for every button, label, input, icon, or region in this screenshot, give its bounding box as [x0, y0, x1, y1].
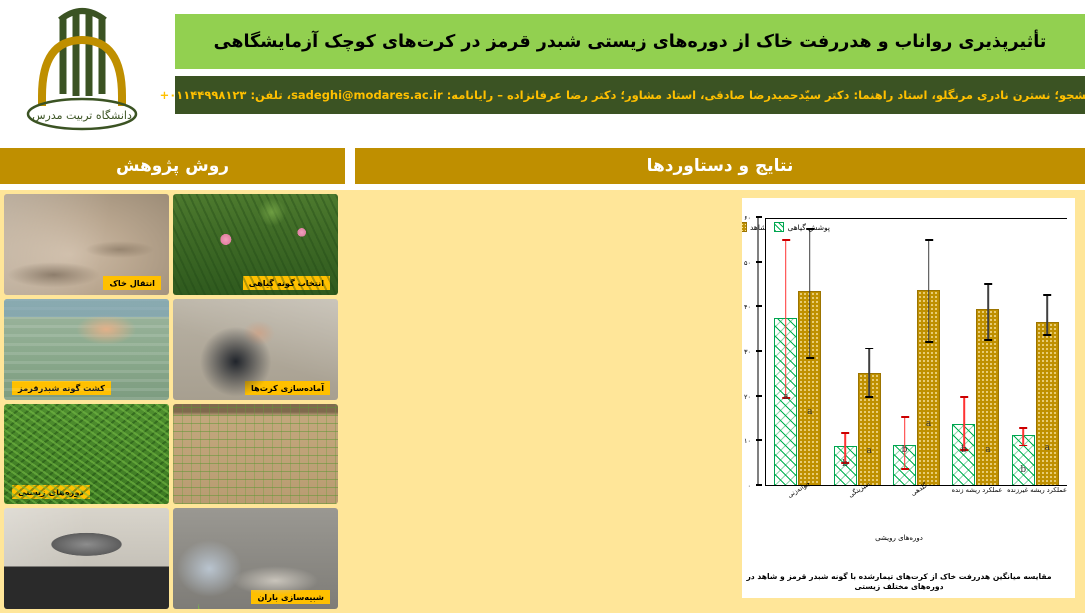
significance-letter: b — [1020, 465, 1026, 475]
significance-letter: b — [961, 445, 967, 455]
error-bar — [963, 396, 965, 451]
photo-red-clover-planting: کشت گونه شبدرقرمز — [4, 299, 169, 400]
photo-caption: انتقال خاک — [103, 276, 161, 290]
x-axis-tick-label: عملکرد ریشه غیرزنده — [1012, 486, 1063, 524]
poster-title-bar: تأثیرپذیری رواناب و هدررفت خاک از دوره‌ه… — [175, 14, 1085, 69]
method-photo-grid: انتخاب گونه گیاهی انتقال خاک آماده‌سازی … — [4, 194, 338, 609]
photo-caption: انتخاب گونه گیاهی — [243, 276, 330, 290]
method-header-label: روش پژوهش — [116, 156, 229, 176]
error-bar — [785, 239, 787, 399]
bar-control: a — [976, 309, 999, 485]
bar-group: aa — [773, 219, 823, 485]
error-bar — [904, 416, 906, 470]
significance-letter: a — [866, 446, 871, 456]
photo-soil-transfer: انتقال خاک — [4, 194, 169, 295]
legend-item: پوشش گیاهی — [774, 222, 830, 232]
x-axis-ticks: جوانه‌زنیسبزینگیگلدهیعملکرد ریشه زندهعمل… — [767, 486, 1067, 524]
bar-vegetation: b — [834, 446, 857, 485]
page-title: تأثیرپذیری رواناب و هدررفت خاک از دوره‌ه… — [214, 32, 1047, 52]
bar-group: ba — [1010, 219, 1060, 485]
photo-plot-preparation: آماده‌سازی کرت‌ها — [173, 299, 338, 400]
y-axis-tick-label: ۰ — [748, 482, 752, 490]
y-axis-tick — [756, 484, 762, 486]
bar-control: a — [858, 373, 881, 485]
x-axis-tick-label: عملکرد ریشه زنده — [952, 486, 1003, 524]
legend-swatch — [774, 222, 784, 232]
university-logo: دانشگاه تربیت مدرس — [8, 6, 158, 134]
y-axis-tick — [756, 216, 762, 218]
chart-soil-loss: ۰۱۰۲۰۳۰۴۰۵۰۶۰میانگین هدررفت خاک (گرم)aab… — [723, 198, 1075, 598]
photo-sample-weighing: توزین نمونه‌ها — [4, 508, 169, 609]
bar-vegetation: b — [893, 445, 916, 485]
y-axis-tick — [756, 439, 762, 441]
photo-plant-species: انتخاب گونه گیاهی — [173, 194, 338, 295]
significance-letter: a — [807, 407, 812, 417]
photo-biological-periods: دوره‌های زیستی — [4, 404, 169, 505]
y-axis-tick — [756, 261, 762, 263]
photo-caption: توزین نمونه‌ها — [12, 590, 81, 604]
y-axis-tick — [756, 305, 762, 307]
bar-control: a — [798, 291, 821, 485]
chart-soil-loss-plot: ۰۱۰۲۰۳۰۴۰۵۰۶۰میانگین هدررفت خاک (گرم)aab… — [723, 198, 1075, 558]
svg-text:دانشگاه تربیت مدرس: دانشگاه تربیت مدرس — [32, 109, 132, 122]
method-panel: انتخاب گونه گیاهی انتقال خاک آماده‌سازی … — [0, 190, 742, 613]
chart-soil-loss-caption: مقایسه میانگین هدررفت خاک از کرت‌های تیم… — [729, 572, 1069, 592]
x-axis-tick-label: جوانه‌زنی — [772, 486, 823, 524]
error-bar — [868, 348, 870, 398]
bar-group: ba — [891, 219, 941, 485]
x-axis-tick-label: گلدهی — [892, 486, 943, 524]
y-axis: ۰۱۰۲۰۳۰۴۰۵۰۶۰ — [757, 218, 759, 486]
results-header-label: نتایج و دستاوردها — [647, 156, 794, 176]
authors-line: دانشجو؛ نسترن نادری مرنگلو، استاد راهنما… — [160, 88, 1085, 102]
chart-legend: پوشش گیاهیشاهد — [737, 222, 830, 232]
section-header-results: نتایج و دستاوردها — [355, 148, 1085, 184]
poster-header: تأثیرپذیری رواناب و هدررفت خاک از دوره‌ه… — [0, 0, 1085, 140]
bar-group: ba — [951, 219, 1001, 485]
photo-caption: شبیه‌سازی باران — [251, 590, 330, 604]
legend-label: پوشش گیاهی — [787, 223, 830, 232]
bar-vegetation: b — [952, 424, 975, 485]
error-bar — [809, 228, 811, 359]
error-bar — [1047, 294, 1049, 335]
significance-letter: a — [783, 392, 788, 402]
significance-letter: b — [902, 445, 908, 455]
bar-control: a — [1036, 322, 1059, 485]
bar-vegetation: a — [774, 318, 797, 485]
y-axis-tick — [756, 350, 762, 352]
error-bar — [928, 239, 930, 343]
legend-label: شاهد — [750, 223, 766, 232]
photo-caption: آماده‌سازی کرت‌ها — [245, 381, 330, 395]
error-bar — [987, 283, 989, 341]
significance-letter: b — [842, 459, 848, 469]
plot-area: aababababa — [765, 218, 1067, 486]
poster-root: تأثیرپذیری رواناب و هدررفت خاک از دوره‌ه… — [0, 0, 1085, 613]
x-axis-tick-label: سبزینگی — [832, 486, 883, 524]
significance-letter: a — [926, 419, 931, 429]
photo-caption: دوره‌های زیستی — [12, 485, 90, 499]
bar-control: a — [917, 290, 940, 485]
photo-rain-simulation: شبیه‌سازی باران — [173, 508, 338, 609]
bar-vegetation: b — [1012, 435, 1035, 485]
poster-authors-bar: دانشجو؛ نسترن نادری مرنگلو، استاد راهنما… — [175, 76, 1085, 114]
error-bar — [1023, 427, 1025, 446]
section-header-method: روش پژوهش — [0, 148, 345, 184]
significance-letter: a — [985, 445, 990, 455]
significance-letter: a — [1045, 443, 1050, 453]
photo-caption: کشت گونه شبدرقرمز — [12, 381, 111, 395]
x-axis-title: دوره‌های رویشی — [723, 534, 1075, 542]
y-axis-tick — [756, 395, 762, 397]
bar-group: ba — [832, 219, 882, 485]
photo-seedlings — [173, 404, 338, 505]
